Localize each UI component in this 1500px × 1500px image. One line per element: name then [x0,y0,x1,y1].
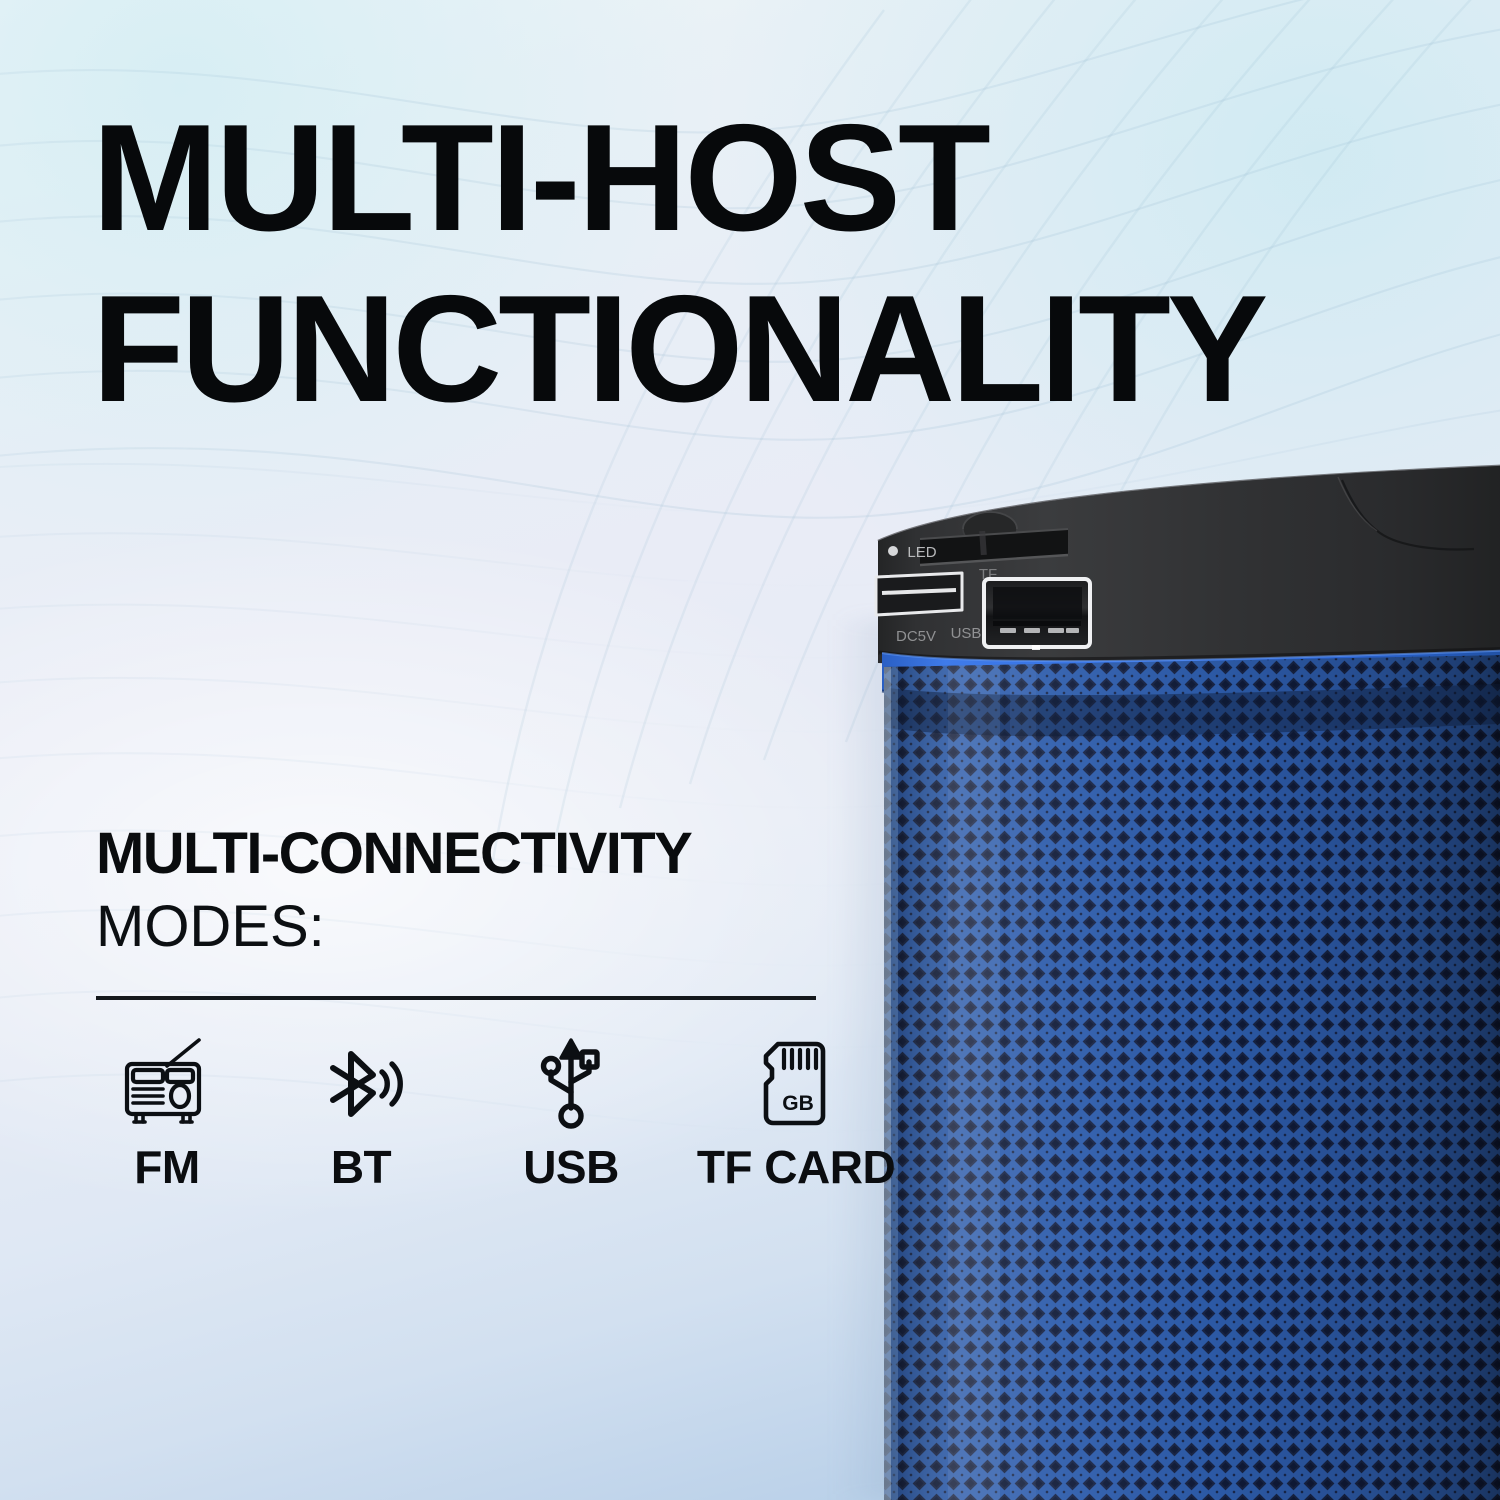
product-feature-poster: MULTI-HOST FUNCTIONALITY [0,0,1500,1500]
port-label-dc: DC5V [896,628,936,645]
mode-label-bt: BT [331,1140,391,1194]
radio-icon [119,1038,215,1130]
port-label-led: LED [907,544,936,561]
sd-card-icon: GB [756,1038,836,1130]
mode-item-usb: USB [476,1038,666,1194]
mode-item-tf-card: GB TF CARD [676,1038,916,1194]
mode-label-usb: USB [523,1140,619,1194]
subhead-line-2: MODES: [96,897,826,956]
usb-icon [531,1038,611,1130]
mode-label-fm: FM [134,1140,199,1194]
headline-line-2: FUNCTIONALITY [92,275,1412,424]
sd-card-capacity-text: GB [782,1092,814,1115]
product-image-speaker: TF LED DC5V [860,455,1500,1500]
section-divider [96,996,816,1000]
headline-line-1: MULTI-HOST [92,104,1412,253]
speaker-mesh-body [860,645,1500,1500]
subhead-block: MULTI-CONNECTIVITY MODES: [96,824,826,956]
mode-item-bt: BT [286,1038,436,1194]
port-label-usb: USB [951,625,982,642]
subhead-line-1: MULTI-CONNECTIVITY [96,824,826,883]
mode-item-fm: FM [92,1038,242,1194]
bluetooth-icon [315,1038,407,1130]
page-title: MULTI-HOST FUNCTIONALITY [92,104,1412,424]
mode-label-tf-card: TF CARD [697,1140,895,1194]
connectivity-modes-row: FM BT [96,1038,826,1188]
